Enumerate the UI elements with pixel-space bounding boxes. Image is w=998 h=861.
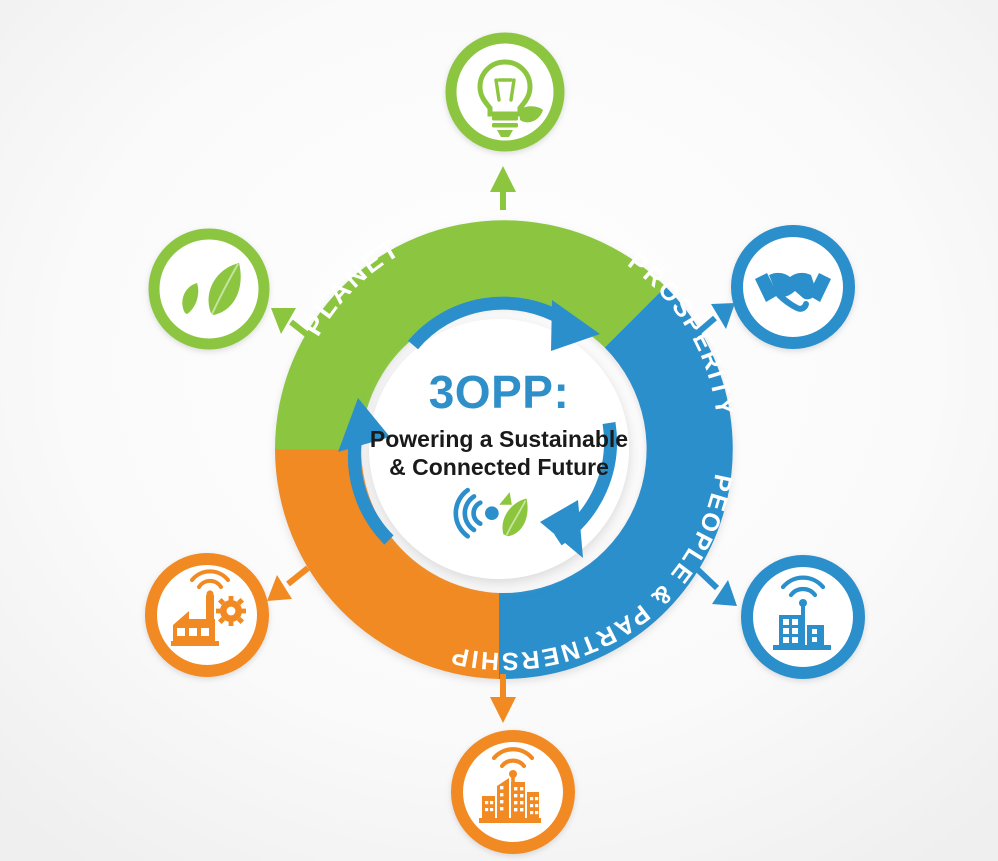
3opp-cycle-diagram: PLANET PEOPLE & PARTNERSHIP PROSPERITY bbox=[0, 0, 998, 861]
node-smart-buildings[interactable] bbox=[747, 561, 859, 673]
node-partnership[interactable] bbox=[737, 231, 849, 343]
node-smart-city[interactable] bbox=[457, 736, 569, 848]
node-smart-industry[interactable] bbox=[151, 559, 263, 671]
node-innovation[interactable] bbox=[451, 38, 559, 146]
center-subtitle-line1: Powering a Sustainable bbox=[370, 426, 628, 452]
node-environment[interactable] bbox=[154, 234, 264, 344]
center-heading: 3OPP: bbox=[429, 366, 570, 418]
diagram-canvas: PLANET PEOPLE & PARTNERSHIP PROSPERITY bbox=[0, 0, 998, 861]
center-subtitle-line2: & Connected Future bbox=[389, 454, 609, 480]
